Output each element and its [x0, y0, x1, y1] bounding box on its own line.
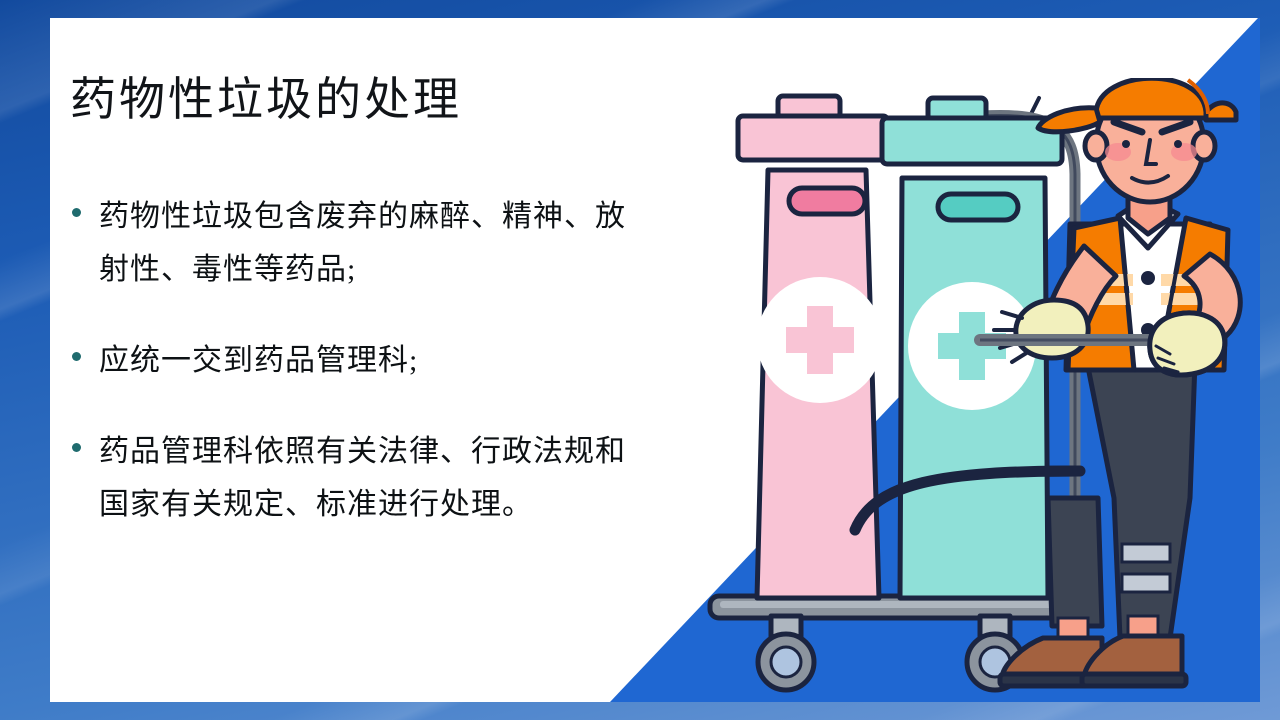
medical-cross-icon — [757, 277, 883, 403]
list-item: 药物性垃圾包含废弃的麻醉、精神、放射性、毒性等药品; — [72, 190, 642, 296]
page-title: 药物性垃圾的处理 — [70, 63, 462, 129]
bullet-dot-icon — [72, 443, 81, 452]
slide-canvas: 药物性垃圾的处理 药物性垃圾包含废弃的麻醉、精神、放射性、毒性等药品; 应统一交… — [0, 0, 1280, 720]
bullet-text: 药物性垃圾包含废弃的麻醉、精神、放射性、毒性等药品; — [99, 190, 642, 296]
bullet-list: 药物性垃圾包含废弃的麻醉、精神、放射性、毒性等药品; 应统一交到药品管理科; 药… — [72, 190, 642, 531]
list-item: 药品管理科依照有关法律、行政法规和国家有关规定、标准进行处理。 — [72, 425, 642, 531]
list-item: 应统一交到药品管理科; — [72, 334, 642, 387]
bullet-dot-icon — [72, 208, 81, 217]
bullet-text: 应统一交到药品管理科; — [99, 334, 418, 387]
cap-brim — [1038, 108, 1100, 132]
content-card: 药物性垃圾的处理 药物性垃圾包含废弃的麻醉、精神、放射性、毒性等药品; 应统一交… — [50, 18, 1260, 702]
bullet-dot-icon — [72, 352, 81, 361]
bullet-text: 药品管理科依照有关法律、行政法规和国家有关规定、标准进行处理。 — [99, 425, 642, 531]
